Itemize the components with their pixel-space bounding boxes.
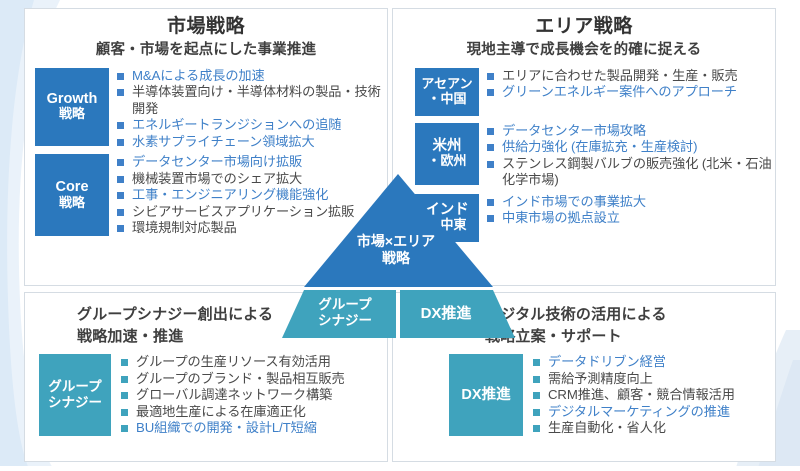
list-item: 最適地生産による在庫適正化 xyxy=(121,404,387,421)
list-item: インド市場での事業拡大 xyxy=(487,194,775,211)
list-item: グループのブランド・製品相互販売 xyxy=(121,371,387,388)
chip-core-line1: Core xyxy=(55,179,88,196)
list-item: グローバル調達ネットワーク構築 xyxy=(121,387,387,404)
area-india-mideast-list: インド市場での事業拡大 中東市場の拠点設立 xyxy=(487,194,775,242)
pyramid-synergy-label: グループ シナジー xyxy=(300,297,390,329)
list-item: グリーンエネルギー案件へのアプローチ xyxy=(487,84,775,101)
area-asean-list: エリアに合わせた製品開発・生産・販売 グリーンエネルギー案件へのアプローチ xyxy=(487,68,775,116)
area-header: エリア戦略 現地主導で成長機会を的確に捉える xyxy=(393,9,775,60)
pyramid-dx-label: DX推進 xyxy=(402,305,490,323)
list-item: BU組織での開発・設計L/T短縮 xyxy=(121,420,387,437)
market-title: 市場戦略 xyxy=(25,15,387,39)
chip-asean-line2: ・中国 xyxy=(427,92,466,107)
area-title: エリア戦略 xyxy=(393,15,775,39)
list-item: グループの生産リソース有効活用 xyxy=(121,354,387,371)
list-item: 生産自動化・省人化 xyxy=(533,420,775,437)
chip-core[interactable]: Core 戦略 xyxy=(35,154,109,236)
list-item: 供給力強化 (在庫拡充・生産検討) xyxy=(487,139,775,156)
list-item: エネルギートランジションへの追随 xyxy=(117,117,387,134)
chip-group-synergy[interactable]: グループ シナジー xyxy=(39,354,111,436)
pyramid-synergy-line1: グループ xyxy=(300,297,390,313)
pyramid-dx-text: DX推進 xyxy=(402,305,490,323)
dx-subtitle-line1: デジタル技術の活用による xyxy=(485,305,775,325)
chip-americas-europe-line1: 米州 xyxy=(433,138,462,155)
chip-growth[interactable]: Growth 戦略 xyxy=(35,68,109,146)
chip-group-synergy-line1: グループ xyxy=(48,379,101,395)
list-item: 水素サプライチェーン領域拡大 xyxy=(117,134,387,151)
chip-dx[interactable]: DX推進 xyxy=(449,354,523,436)
chip-asean[interactable]: アセアン ・中国 xyxy=(415,68,479,116)
area-americas-europe-list: データセンター市場攻略 供給力強化 (在庫拡充・生産検討) ステンレス鋼製バルブ… xyxy=(487,123,775,189)
list-item: データセンター市場攻略 xyxy=(487,123,775,140)
chip-asean-line1: アセアン xyxy=(421,77,472,92)
pyramid-main-line1: 市場×エリア xyxy=(330,233,462,250)
list-item: データドリブン経営 xyxy=(533,354,775,371)
market-subtitle: 顧客・市場を起点にした事業推進 xyxy=(25,41,387,60)
slide-canvas: 市場戦略 顧客・市場を起点にした事業推進 Growth 戦略 M&Aによる成長の… xyxy=(0,0,800,471)
market-group-growth: Growth 戦略 M&Aによる成長の加速 半導体装置向け・半導体材料の製品・技… xyxy=(35,68,387,151)
market-header: 市場戦略 顧客・市場を起点にした事業推進 xyxy=(25,9,387,60)
list-item: 半導体装置向け・半導体材料の製品・技術開発 xyxy=(117,84,387,117)
pyramid-top-triangle xyxy=(304,174,493,287)
area-group-asean: アセアン ・中国 エリアに合わせた製品開発・生産・販売 グリーンエネルギー案件へ… xyxy=(415,68,775,116)
market-growth-list: M&Aによる成長の加速 半導体装置向け・半導体材料の製品・技術開発 エネルギート… xyxy=(117,68,387,151)
synergy-list: グループの生産リソース有効活用 グループのブランド・製品相互販売 グローバル調達… xyxy=(121,354,387,437)
chip-growth-line1: Growth xyxy=(47,91,98,108)
chip-dx-line1: DX推進 xyxy=(461,387,510,404)
pyramid-main-line2: 戦略 xyxy=(330,250,462,267)
pyramid-main-label: 市場×エリア 戦略 xyxy=(330,233,462,267)
list-item: デジタルマーケティングの推進 xyxy=(533,404,775,421)
list-item: M&Aによる成長の加速 xyxy=(117,68,387,85)
chip-core-line2: 戦略 xyxy=(59,196,85,211)
area-subtitle: 現地主導で成長機会を的確に捉える xyxy=(393,41,775,60)
dx-list: データドリブン経営 需給予測精度向上 CRM推進、顧客・競合情報活用 デジタルマ… xyxy=(533,354,775,437)
list-item: ステンレス鋼製バルブの販売強化 (北米・石油化学市場) xyxy=(487,156,775,189)
chip-growth-line2: 戦略 xyxy=(59,107,85,122)
list-item: 中東市場の拠点設立 xyxy=(487,210,775,227)
chip-group-synergy-line2: シナジー xyxy=(48,395,102,411)
list-item: エリアに合わせた製品開発・生産・販売 xyxy=(487,68,775,85)
dx-group: DX推進 データドリブン経営 需給予測精度向上 CRM推進、顧客・競合情報活用 … xyxy=(449,354,775,437)
list-item: 需給予測精度向上 xyxy=(533,371,775,388)
list-item: CRM推進、顧客・競合情報活用 xyxy=(533,387,775,404)
dx-subtitle-line2: 戦略立案・サポート xyxy=(485,327,775,347)
pyramid-synergy-line2: シナジー xyxy=(300,313,390,329)
synergy-group: グループ シナジー グループの生産リソース有効活用 グループのブランド・製品相互… xyxy=(39,354,387,437)
